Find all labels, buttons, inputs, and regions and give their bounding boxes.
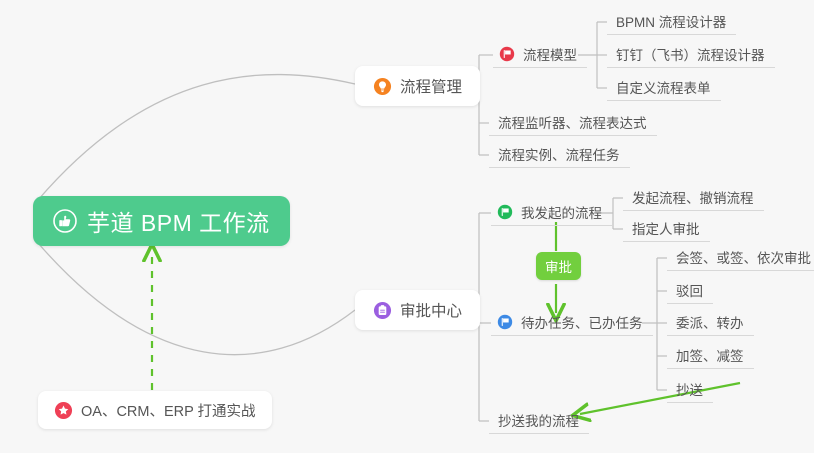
node-process-listener-expression[interactable]: 流程监听器、流程表达式 [489,109,657,136]
node-countersign-orsign-sequential-label: 会签、或签、依次审批 [676,247,811,267]
node-countersign-orsign-sequential[interactable]: 会签、或签、依次审批 [667,244,814,271]
approval-callout[interactable]: 审批 [536,252,581,280]
node-cc-to-me-process-label: 抄送我的流程 [498,410,579,430]
node-start-cancel-process-label: 发起流程、撤销流程 [632,187,754,207]
root-label: 芋道 BPM 工作流 [87,204,270,238]
flag-icon [497,314,513,330]
node-dingtalk-feishu-designer[interactable]: 钉钉（飞书）流程设计器 [607,41,775,68]
node-add-remove-sign-label: 加签、减签 [676,345,744,365]
node-custom-process-form[interactable]: 自定义流程表单 [607,74,721,101]
node-start-cancel-process[interactable]: 发起流程、撤销流程 [623,184,764,211]
node-process-model[interactable]: 流程模型 [493,41,587,68]
footnote-label: OA、CRM、ERP 打通实战 [81,400,256,421]
node-todo-done-tasks[interactable]: 待办任务、已办任务 [491,309,653,336]
node-dingtalk-feishu-designer-label: 钉钉（飞书）流程设计器 [616,44,765,64]
node-assignee-approval[interactable]: 指定人审批 [623,215,710,242]
star-icon [54,401,73,420]
thumbs-up-icon [53,209,77,233]
mindmap-canvas: 芋道 BPM 工作流 流程管理 流程模型 BPMN 流程设计器 钉钉（飞书）流程 [0,0,814,453]
node-process-model-label: 流程模型 [523,44,577,64]
arrow-cc-to-cc-to-me [580,383,740,414]
node-bpmn-designer-label: BPMN 流程设计器 [616,11,726,31]
flag-icon [497,204,513,220]
lightbulb-icon [373,77,392,96]
branch-process-management-label: 流程管理 [400,75,462,97]
node-delegate-transfer-label: 委派、转办 [676,312,744,332]
flag-icon [499,46,515,62]
node-cc-to-me-process[interactable]: 抄送我的流程 [489,407,589,434]
node-todo-done-tasks-label: 待办任务、已办任务 [521,312,643,332]
node-my-initiated-process-label: 我发起的流程 [521,202,602,222]
wire-root-to-approval-center [38,243,355,355]
node-assignee-approval-label: 指定人审批 [632,218,700,238]
node-process-instance-task[interactable]: 流程实例、流程任务 [489,141,630,168]
node-cc-label: 抄送 [676,379,703,399]
node-my-initiated-process[interactable]: 我发起的流程 [491,199,612,226]
clipboard-icon [373,301,392,320]
node-custom-process-form-label: 自定义流程表单 [616,77,711,97]
node-delegate-transfer[interactable]: 委派、转办 [667,309,754,336]
node-reject[interactable]: 驳回 [667,277,713,304]
node-add-remove-sign[interactable]: 加签、减签 [667,342,754,369]
branch-approval-center[interactable]: 审批中心 [355,290,480,330]
branch-approval-center-label: 审批中心 [400,299,462,321]
branch-process-management[interactable]: 流程管理 [355,66,480,106]
root-node[interactable]: 芋道 BPM 工作流 [33,196,290,246]
node-bpmn-designer[interactable]: BPMN 流程设计器 [607,8,736,35]
node-cc[interactable]: 抄送 [667,376,713,403]
node-process-listener-expression-label: 流程监听器、流程表达式 [498,112,647,132]
node-reject-label: 驳回 [676,280,703,300]
wire-root-to-process-management [38,75,355,200]
approval-callout-label: 审批 [545,256,572,276]
node-process-instance-task-label: 流程实例、流程任务 [498,144,620,164]
footnote-integration-practice[interactable]: OA、CRM、ERP 打通实战 [38,391,272,429]
